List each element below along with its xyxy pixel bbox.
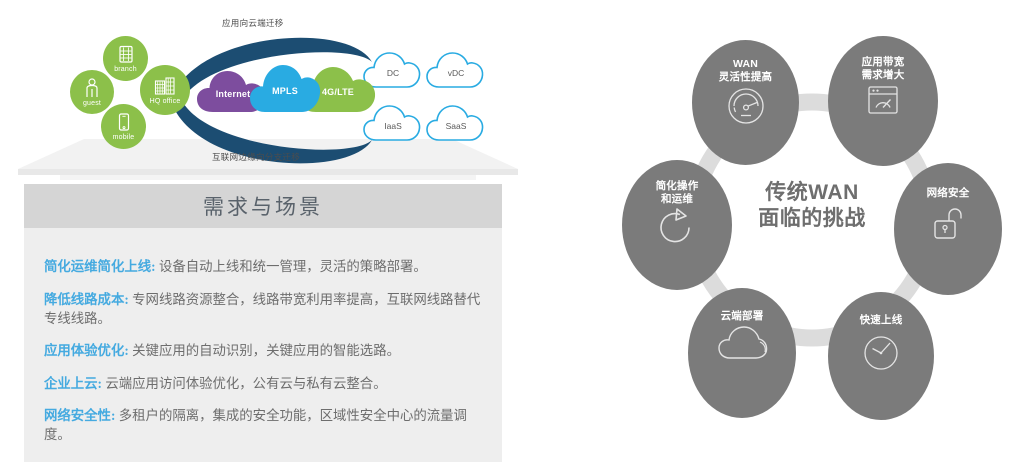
left-panel: 应用向云端迁移 互联网边缘向分支迁移 guest xyxy=(0,0,540,459)
node-simplify-ops[interactable]: 简化操作 和运维 xyxy=(622,160,732,290)
cloud-icon xyxy=(716,325,768,367)
office-building-icon xyxy=(117,44,135,64)
endpoint-branch-label: branch xyxy=(114,66,137,73)
destination-cloud-vdc-label: vDC xyxy=(448,68,465,78)
requirement-item-text: 设备自动上线和统一管理，灵活的策略部署。 xyxy=(156,259,427,274)
destination-cloud-saas-label: SaaS xyxy=(446,121,467,131)
endpoint-mobile-label: mobile xyxy=(113,134,135,141)
requirement-item-key: 网络安全性: xyxy=(44,408,115,423)
node-wan-flexibility[interactable]: WAN 灵活性提高 xyxy=(692,40,799,165)
endpoint-hq-office[interactable]: HQ office xyxy=(140,65,190,115)
open-padlock-icon xyxy=(928,202,968,244)
destination-cloud-vdc[interactable]: vDC xyxy=(425,50,487,92)
node-network-security-label-1: 网络安全 xyxy=(927,187,970,200)
wheel-center-line-2: 面临的挑战 xyxy=(722,206,902,232)
smartphone-icon xyxy=(117,112,131,132)
city-buildings-icon xyxy=(153,76,177,96)
arc-label-bottom: 互联网边缘向分支迁移 xyxy=(212,151,300,163)
destination-cloud-saas[interactable]: SaaS xyxy=(425,103,487,145)
requirement-item-text: 云端应用访问体验优化，公有云与私有云整合。 xyxy=(102,376,387,391)
node-app-bandwidth-label-2: 需求增大 xyxy=(862,69,905,82)
endpoint-guest[interactable]: guest xyxy=(70,70,114,114)
node-app-bandwidth-label-1: 应用带宽 xyxy=(862,56,905,69)
destination-cloud-dc-label: DC xyxy=(387,68,399,78)
network-topology-diagram: 应用向云端迁移 互联网边缘向分支迁移 guest xyxy=(0,0,540,185)
requirement-item: 简化运维简化上线: 设备自动上线和统一管理，灵活的策略部署。 xyxy=(44,257,482,276)
requirement-item-text: 关键应用的自动识别，关键应用的智能选路。 xyxy=(129,343,400,358)
endpoint-guest-label: guest xyxy=(83,100,101,107)
gauge-icon xyxy=(725,85,767,127)
requirement-item: 应用体验优化: 关键应用的自动识别，关键应用的智能选路。 xyxy=(44,341,482,360)
node-cloud-deployment-label-1: 云端部署 xyxy=(721,310,764,323)
wheel-center-text: 传统WAN 面临的挑战 xyxy=(722,180,902,232)
requirement-item-key: 降低线路成本: xyxy=(44,292,129,307)
person-icon xyxy=(84,78,100,98)
node-app-bandwidth[interactable]: 应用带宽 需求增大 xyxy=(828,36,938,166)
wheel-center-line-1: 传统WAN xyxy=(722,180,902,206)
requirements-header: 需求与场景 xyxy=(24,184,502,228)
page-title: 需求与场景 xyxy=(203,191,323,221)
requirements-card: 需求与场景 简化运维简化上线: 设备自动上线和统一管理，灵活的策略部署。 降低线… xyxy=(24,184,502,462)
node-wan-flexibility-label-1: WAN xyxy=(733,58,758,71)
endpoint-branch[interactable]: branch xyxy=(103,36,148,81)
requirement-item-key: 企业上云: xyxy=(44,376,102,391)
node-fast-online[interactable]: 快速上线 xyxy=(828,292,934,420)
node-cloud-deployment[interactable]: 云端部署 xyxy=(688,288,796,418)
node-network-security[interactable]: 网络安全 xyxy=(894,163,1002,295)
requirement-item: 网络安全性: 多租户的隔离，集成的安全功能，区域性安全中心的流量调度。 xyxy=(44,406,482,444)
node-fast-online-label-1: 快速上线 xyxy=(860,314,903,327)
refresh-arrow-icon xyxy=(655,207,699,249)
requirement-item: 降低线路成本: 专网线路资源整合，线路带宽利用率提高，互联网线路替代专线线路。 xyxy=(44,290,482,328)
requirement-item-key: 应用体验优化: xyxy=(44,343,129,358)
node-wan-flexibility-label-2: 灵活性提高 xyxy=(719,71,773,84)
transport-cloud-4g-lte-label: 4G/LTE xyxy=(322,87,354,97)
requirement-item: 企业上云: 云端应用访问体验优化，公有云与私有云整合。 xyxy=(44,374,482,393)
endpoint-hq-office-label: HQ office xyxy=(150,98,181,105)
arc-label-top: 应用向云端迁移 xyxy=(222,17,284,29)
endpoint-mobile[interactable]: mobile xyxy=(101,104,146,149)
transport-cloud-internet-label: Internet xyxy=(216,89,251,99)
browser-gauge-icon xyxy=(863,83,903,121)
node-simplify-ops-label-1: 简化操作 xyxy=(656,180,699,193)
node-simplify-ops-label-2: 和运维 xyxy=(661,193,693,206)
requirements-body: 简化运维简化上线: 设备自动上线和统一管理，灵活的策略部署。 降低线路成本: 专… xyxy=(24,228,502,462)
transport-cloud-mpls-label: MPLS xyxy=(272,86,298,96)
transport-cloud-mpls[interactable]: MPLS xyxy=(247,59,323,118)
destination-cloud-iaas-label: IaaS xyxy=(384,121,402,131)
requirement-item-key: 简化运维简化上线: xyxy=(44,259,156,274)
challenges-wheel: WAN 灵活性提高 应用带宽 需求增大 xyxy=(600,20,1024,440)
clock-icon xyxy=(859,329,903,373)
slide-canvas: 应用向云端迁移 互联网边缘向分支迁移 guest xyxy=(0,0,1024,459)
